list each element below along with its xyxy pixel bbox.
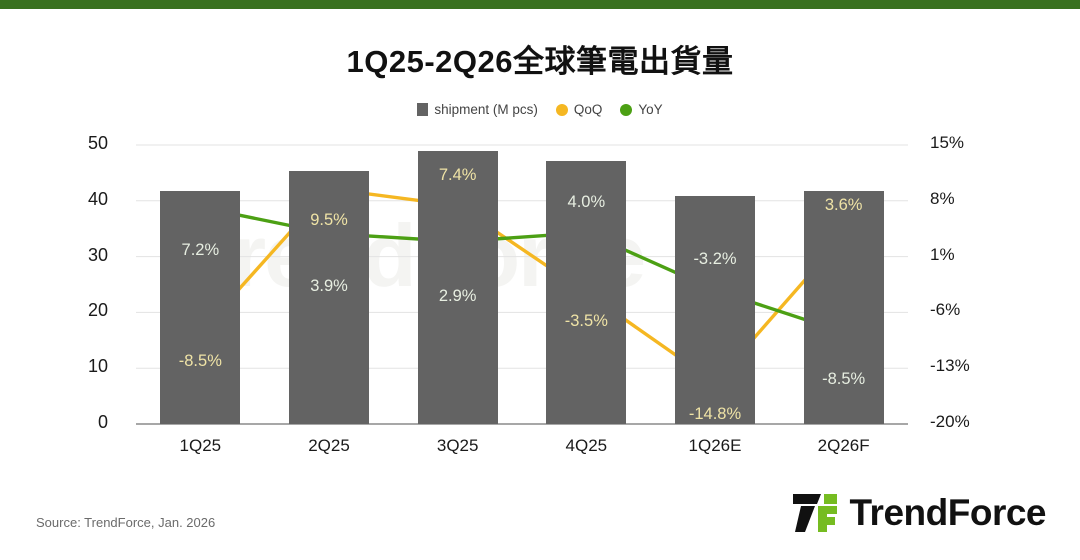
data-label-qoq-4Q25: -3.5% bbox=[516, 312, 656, 331]
brand-logo: TrendForce bbox=[791, 492, 1047, 534]
data-label-yoy-2Q26F: -8.5% bbox=[774, 370, 914, 389]
y-axis-tick-label: 20 bbox=[62, 300, 108, 321]
x-axis-tick-label: 2Q26F bbox=[784, 436, 904, 456]
x-axis-tick-label: 2Q25 bbox=[269, 436, 389, 456]
data-label-qoq-3Q25: 7.4% bbox=[388, 166, 528, 185]
x-axis-tick-label: 1Q25 bbox=[140, 436, 260, 456]
y2-axis-tick-label: 15% bbox=[930, 133, 990, 153]
bar-1Q25[interactable] bbox=[160, 191, 240, 424]
y2-axis-tick-label: 1% bbox=[930, 245, 990, 265]
y2-axis-tick-label: -6% bbox=[930, 300, 990, 320]
data-label-qoq-2Q26F: 3.6% bbox=[774, 196, 914, 215]
y2-axis-tick-label: -13% bbox=[930, 356, 990, 376]
data-label-yoy-3Q25: 2.9% bbox=[388, 287, 528, 306]
source-note: Source: TrendForce, Jan. 2026 bbox=[36, 515, 215, 530]
brand-logo-text: TrendForce bbox=[850, 492, 1047, 534]
y2-axis-tick-label: -20% bbox=[930, 412, 990, 432]
x-axis-tick-label: 3Q25 bbox=[398, 436, 518, 456]
y-axis-tick-label: 10 bbox=[62, 356, 108, 377]
y-axis-tick-label: 50 bbox=[62, 133, 108, 154]
data-label-yoy-2Q25: 3.9% bbox=[259, 277, 399, 296]
bar-2Q25[interactable] bbox=[289, 171, 369, 424]
chart-plot-area: 01020304050-20%-13%-6%1%8%15%1Q252Q253Q2… bbox=[0, 0, 1080, 560]
data-label-qoq-1Q25: -8.5% bbox=[130, 352, 270, 371]
y-axis-tick-label: 30 bbox=[62, 245, 108, 266]
x-axis-tick-label: 1Q26E bbox=[655, 436, 775, 456]
data-label-qoq-2Q25: 9.5% bbox=[259, 211, 399, 230]
trendforce-logo-icon bbox=[791, 492, 841, 534]
x-axis-tick-label: 4Q25 bbox=[526, 436, 646, 456]
data-label-yoy-1Q25: 7.2% bbox=[130, 241, 270, 260]
data-label-yoy-4Q25: 4.0% bbox=[516, 193, 656, 212]
data-label-yoy-1Q26E: -3.2% bbox=[645, 250, 785, 269]
y-axis-tick-label: 0 bbox=[62, 412, 108, 433]
y2-axis-tick-label: 8% bbox=[930, 189, 990, 209]
y-axis-tick-label: 40 bbox=[62, 189, 108, 210]
data-label-qoq-1Q26E: -14.8% bbox=[645, 405, 785, 424]
bar-1Q26E[interactable] bbox=[675, 196, 755, 424]
